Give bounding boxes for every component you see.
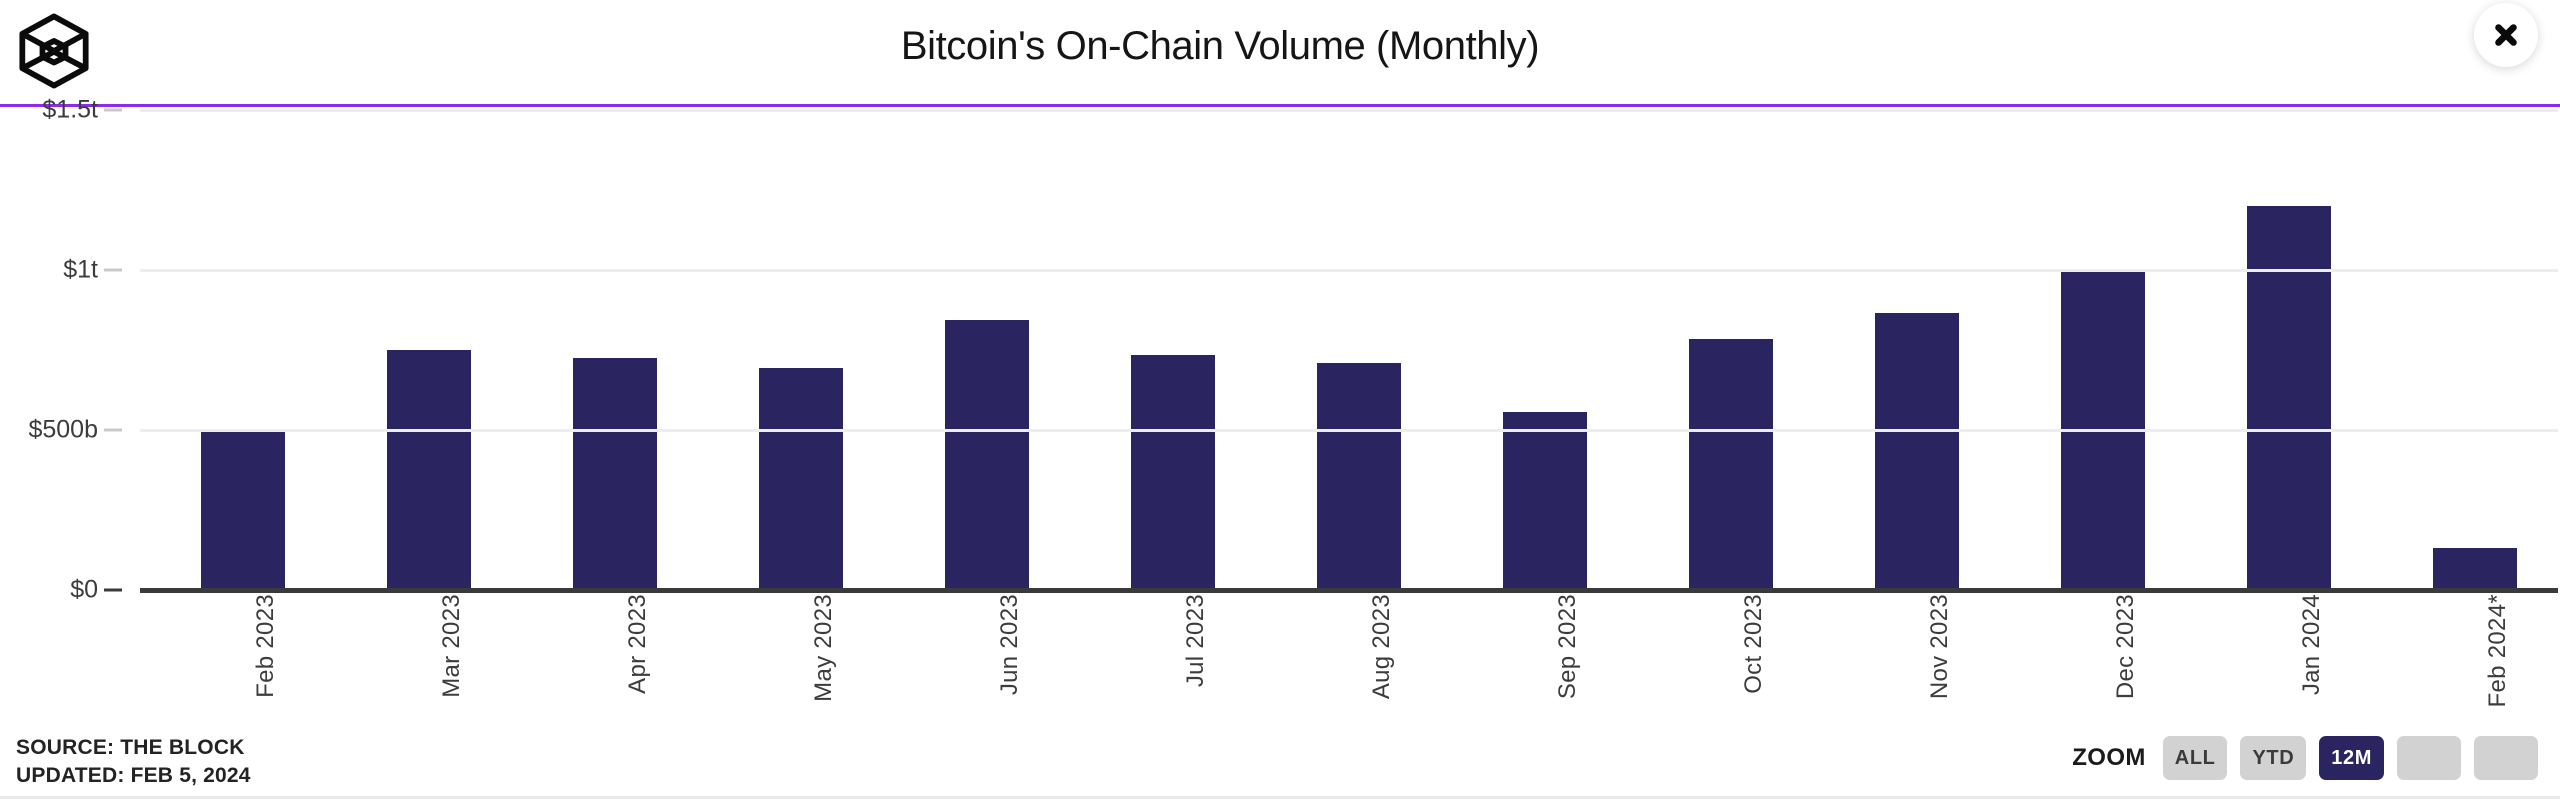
x-axis-tick-label: Feb 2023 bbox=[252, 594, 280, 698]
chart-footer: SOURCE: THE BLOCK UPDATED: FEB 5, 2024 Z… bbox=[0, 730, 2560, 800]
zoom-button-ytd[interactable]: YTD bbox=[2240, 736, 2306, 780]
y-axis-tick-label: $0 bbox=[70, 576, 98, 605]
close-icon bbox=[2491, 20, 2521, 50]
x-axis-baseline bbox=[140, 588, 2558, 593]
gridline bbox=[140, 269, 2558, 272]
close-button[interactable] bbox=[2474, 3, 2538, 67]
source-line: SOURCE: THE BLOCK bbox=[16, 734, 251, 762]
zoom-controls: ZOOM ALLYTD12M bbox=[2072, 736, 2538, 780]
zoom-button-all[interactable]: ALL bbox=[2163, 736, 2228, 780]
y-axis: $0$500b$1t$1.5t bbox=[0, 110, 140, 610]
x-axis-tick-label: Jul 2023 bbox=[1182, 594, 1210, 687]
zoom-button-12m[interactable]: 12M bbox=[2319, 736, 2384, 780]
zoom-button-empty[interactable] bbox=[2397, 736, 2461, 780]
bar[interactable] bbox=[1317, 363, 1401, 590]
page-title: Bitcoin's On-Chain Volume (Monthly) bbox=[0, 24, 2560, 69]
bar[interactable] bbox=[1503, 412, 1587, 590]
x-axis-tick-label: Dec 2023 bbox=[2112, 594, 2140, 699]
chart-plot-area: $0$500b$1t$1.5t Feb 2023Mar 2023Apr 2023… bbox=[0, 110, 2560, 730]
y-axis-tick-mark bbox=[104, 589, 122, 592]
x-axis-tick-label: Aug 2023 bbox=[1368, 594, 1396, 699]
bar[interactable] bbox=[201, 430, 285, 590]
x-axis-tick-label: Apr 2023 bbox=[624, 594, 652, 694]
bar[interactable] bbox=[1131, 355, 1215, 590]
x-axis-tick-label: Nov 2023 bbox=[1926, 594, 1954, 699]
bar-series bbox=[140, 110, 2558, 590]
chart-header: Bitcoin's On-Chain Volume (Monthly) bbox=[0, 0, 2560, 110]
y-axis-tick-mark bbox=[104, 269, 122, 272]
bar[interactable] bbox=[1875, 313, 1959, 590]
source-credit: SOURCE: THE BLOCK UPDATED: FEB 5, 2024 bbox=[16, 734, 251, 789]
bar[interactable] bbox=[945, 320, 1029, 590]
bar[interactable] bbox=[573, 358, 657, 590]
accent-divider bbox=[0, 104, 2560, 107]
gridline bbox=[140, 429, 2558, 432]
gridline bbox=[140, 109, 2558, 112]
chart-grid bbox=[140, 110, 2558, 590]
bar[interactable] bbox=[1689, 339, 1773, 590]
x-axis-tick-label: Sep 2023 bbox=[1554, 594, 1582, 699]
x-axis-tick-label: May 2023 bbox=[810, 594, 838, 702]
y-axis-tick-mark bbox=[104, 109, 122, 112]
y-axis-tick-label: $1.5t bbox=[42, 96, 98, 125]
y-axis-tick-label: $1t bbox=[63, 256, 98, 285]
bottom-divider bbox=[0, 796, 2560, 799]
zoom-button-empty[interactable] bbox=[2474, 736, 2538, 780]
x-axis-tick-label: Jan 2024 bbox=[2298, 594, 2326, 695]
x-axis-tick-label: Mar 2023 bbox=[438, 594, 466, 698]
y-axis-tick-label: $500b bbox=[28, 416, 98, 445]
bar[interactable] bbox=[2433, 548, 2517, 590]
bar[interactable] bbox=[387, 350, 471, 590]
x-axis: Feb 2023Mar 2023Apr 2023May 2023Jun 2023… bbox=[140, 594, 2558, 724]
bar[interactable] bbox=[759, 368, 843, 590]
bar[interactable] bbox=[2247, 206, 2331, 590]
zoom-label: ZOOM bbox=[2072, 744, 2146, 772]
x-axis-tick-label: Feb 2024* bbox=[2484, 594, 2512, 707]
x-axis-tick-label: Oct 2023 bbox=[1740, 594, 1768, 694]
updated-line: UPDATED: FEB 5, 2024 bbox=[16, 762, 251, 790]
x-axis-tick-label: Jun 2023 bbox=[996, 594, 1024, 695]
y-axis-tick-mark bbox=[104, 429, 122, 432]
